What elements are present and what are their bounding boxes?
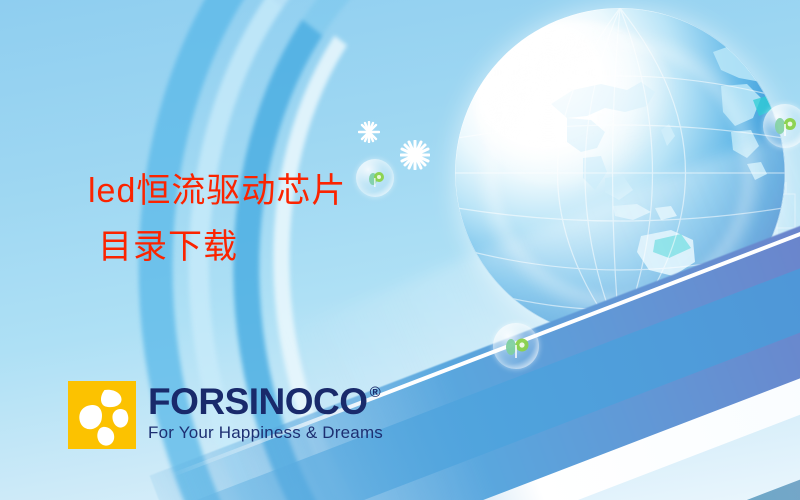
logo-wordmark-text: FORSINOCO [148,383,368,421]
logo-wordmark: FORSINOCO ® [148,383,383,421]
globe-graphic [455,8,785,338]
headline: led恒流驱动芯片 目录下载 [88,163,418,275]
bubble-windmill-icon [763,104,800,148]
registered-trademark-icon: ® [370,385,381,400]
pinwheel-petals-icon [68,381,136,449]
bubble-windmill-icon [493,323,539,369]
company-logo: FORSINOCO ® For Your Happiness & Dreams [68,381,383,449]
logo-tagline: For Your Happiness & Dreams [148,423,383,443]
headline-line-2: 目录下载 [88,219,418,275]
headline-line-1: led恒流驱动芯片 [88,163,418,219]
sparkle-icon [358,121,380,143]
promo-banner: led恒流驱动芯片 目录下载 FORSINOCO ® For Your Happ… [0,0,800,500]
diagonal-band-teal [515,388,800,500]
globe-halo [439,0,800,354]
logo-text-block: FORSINOCO ® For Your Happiness & Dreams [148,381,383,443]
forsinoco-pinwheel-icon [68,381,136,449]
bubble-icon [493,323,539,369]
bubble-icon [763,104,800,148]
